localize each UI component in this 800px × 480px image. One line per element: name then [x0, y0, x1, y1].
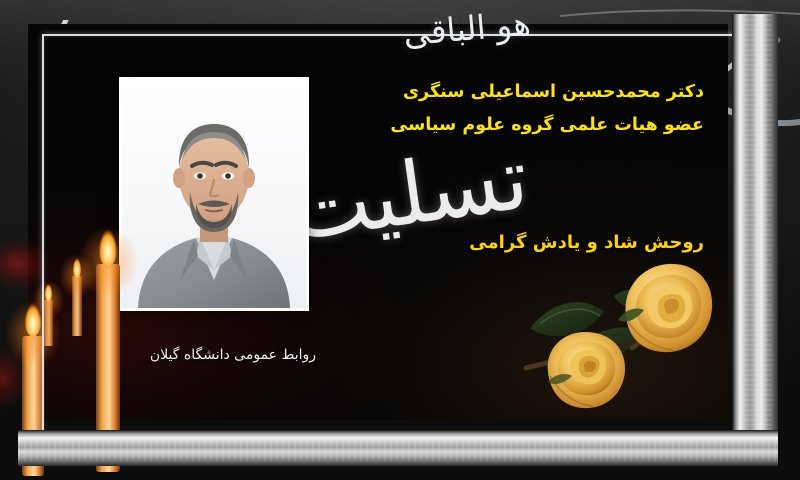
roses-decoration	[520, 262, 750, 432]
condolence-banner: تسلیت هو الباقی	[0, 0, 800, 480]
deceased-role: عضو هیات علمی گروه علوم سیاسی	[374, 109, 704, 142]
portrait-photo	[122, 80, 306, 308]
roses-icon	[520, 262, 750, 432]
memorial-wish-line: روحش شاد و یادش گرامی	[374, 228, 704, 258]
portrait-illustration	[122, 80, 306, 308]
deceased-name: دکتر محمدحسین اسماعیلی سنگری	[374, 76, 704, 109]
credit-public-relations: روابط عمومی دانشگاه گیلان	[118, 344, 348, 366]
deceased-text-block: دکتر محمدحسین اسماعیلی سنگری عضو هیات عل…	[374, 76, 704, 142]
